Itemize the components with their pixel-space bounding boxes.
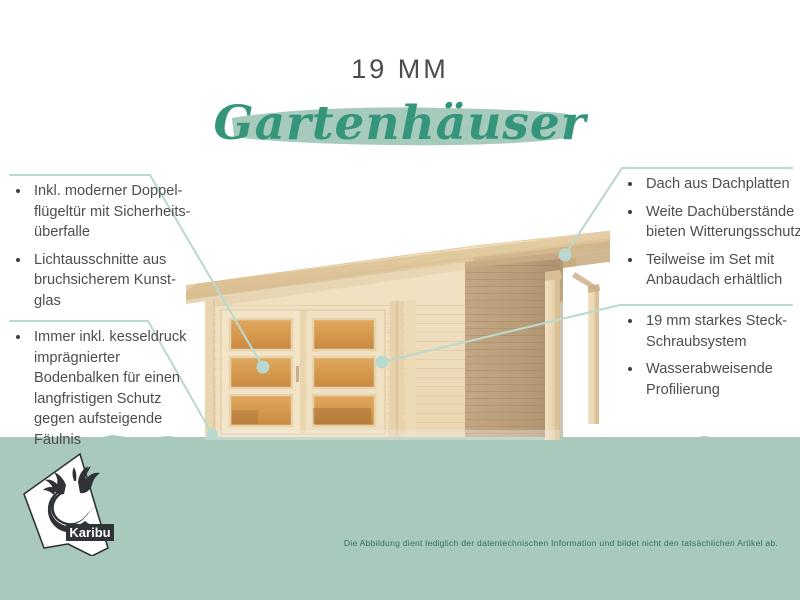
list-item: Inkl. moderner Doppel-flügeltür mit Sich… [10, 181, 196, 243]
infographic-canvas: 19 MM Gartenhäuser Inkl. [0, 0, 800, 600]
callout-top-left: Inkl. moderner Doppel-flügeltür mit Sich… [10, 181, 196, 318]
list-item: Immer inkl. kesseldruck imprägnierter Bo… [10, 327, 196, 450]
list-item: Weite Dachüberstände bieten Witterungssc… [622, 202, 800, 243]
list-item: Wasserabweisende Profilierung [622, 359, 800, 400]
page-title-wrap: Gartenhäuser [0, 96, 800, 158]
footer-disclaimer: Die Abbildung dient lediglich der datent… [330, 538, 792, 548]
list-item: Dach aus Dachplatten [622, 174, 800, 195]
logo-wordmark: Karibu [69, 525, 110, 540]
callout-bottom-left: Immer inkl. kesseldruck imprägnierter Bo… [10, 327, 196, 457]
list-item: 19 mm starkes Steck-Schraubsystem [622, 311, 800, 352]
karibu-logo: Karibu [22, 452, 128, 556]
callout-top-right: Dach aus Dachplatten Weite Dachüberständ… [622, 174, 800, 298]
callout-bottom-right: 19 mm starkes Steck-Schraubsystem Wasser… [622, 311, 800, 407]
page-title: Gartenhäuser [0, 96, 800, 151]
list-item: Teilweise im Set mit Anbaudach erhältlic… [622, 250, 800, 291]
list-item: Lichtausschnitte aus bruchsicherem Kunst… [10, 250, 196, 312]
page-kicker: 19 MM [0, 54, 800, 85]
